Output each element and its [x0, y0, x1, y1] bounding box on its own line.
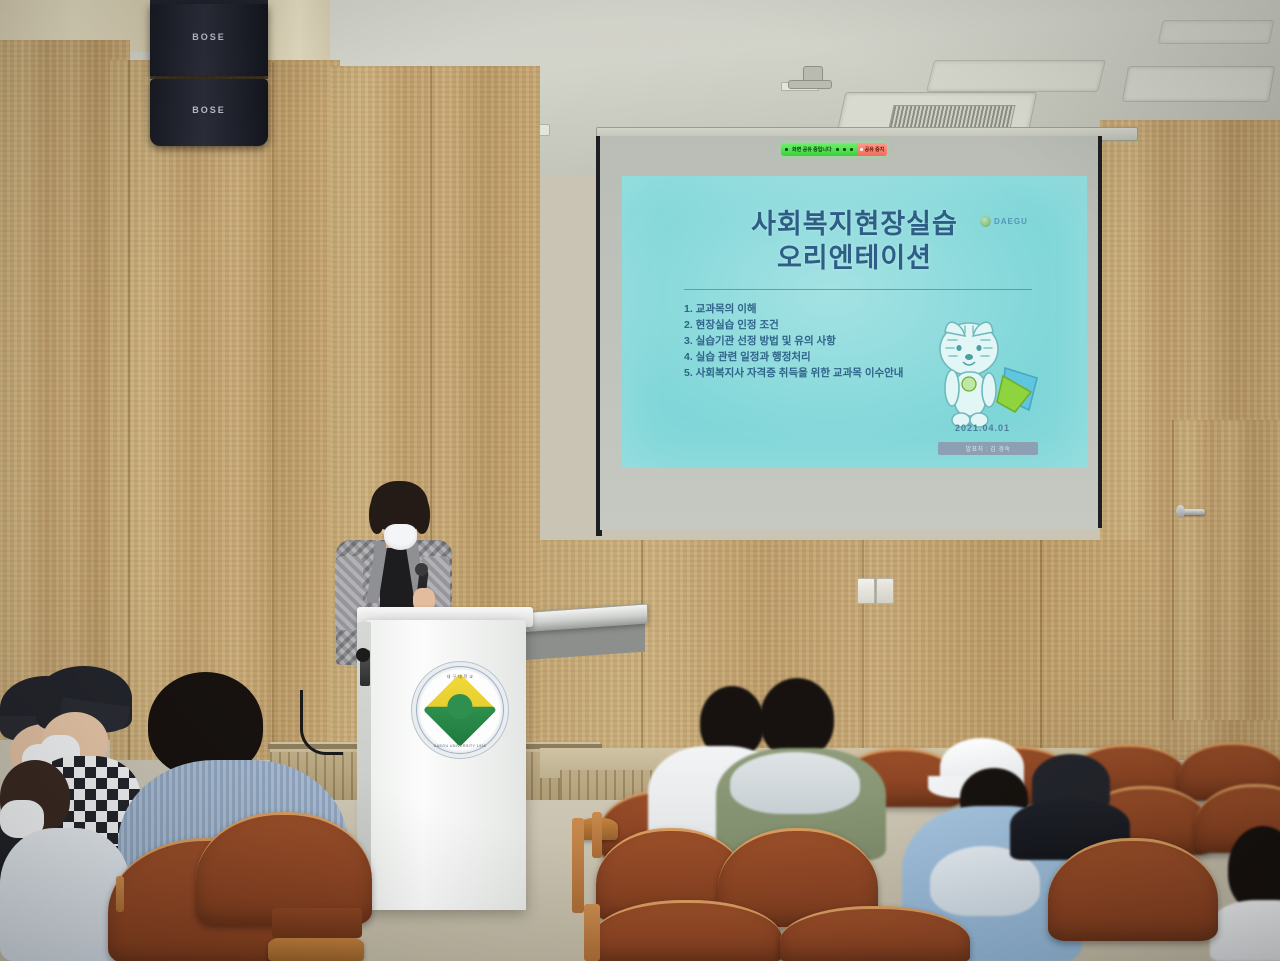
audience-head	[760, 678, 834, 758]
stop-sharing-label: 공유 중지	[865, 146, 885, 153]
speaker-brand-label: BOSE	[150, 105, 268, 115]
upper-wall	[268, 0, 330, 64]
stop-icon	[860, 148, 863, 151]
notification-message-area: 화면 공유 중입니다	[781, 143, 857, 156]
slide-bullet-list: 1. 교과목의 이해 2. 현장실습 인정 조건 3. 실습기관 선정 방법 및…	[684, 302, 903, 382]
seat-divider	[116, 876, 124, 912]
projected-slide: DAEGU 사회복지현장실습 오리엔테이션 1. 교과목의 이해 2. 현장실습…	[622, 176, 1087, 468]
seat-armrest	[268, 934, 364, 961]
emblem-top-text: 대 구 대 학 교	[412, 674, 508, 680]
seat-base	[272, 908, 362, 938]
slide-credit-box: 발표자 : 김 경숙	[938, 442, 1038, 455]
slide-title-line2: 오리엔테이션	[622, 242, 1087, 275]
wall-seam	[128, 60, 130, 760]
wall-outlet-plate[interactable]	[876, 578, 894, 604]
audience-hood	[730, 752, 860, 814]
slide-bullet: 2. 현장실습 인정 조건	[684, 318, 903, 334]
dot-icon	[843, 148, 846, 151]
wall-seam	[1040, 540, 1042, 755]
slide-bullet: 4. 실습 관련 일정과 행정처리	[684, 350, 903, 366]
seat-rail	[584, 904, 600, 961]
stop-sharing-button[interactable]: 공유 중지	[857, 143, 888, 156]
emblem-bottom-text: DAEGU UNIVERSITY 1956	[412, 744, 508, 748]
podium-microphone-stand	[356, 648, 370, 662]
ceiling-ac-vent	[926, 60, 1106, 92]
dot-icon	[836, 148, 839, 151]
dot-icon	[850, 148, 853, 151]
slide-bullet: 3. 실습기관 선정 방법 및 유의 사항	[684, 334, 903, 350]
slide-bullet: 5. 사회복지사 자격증 취득을 위한 교과목 이수안내	[684, 366, 903, 382]
seat-divider	[572, 818, 584, 913]
projector-arm	[788, 80, 832, 89]
door-handle-base	[1176, 505, 1185, 518]
microphone-cable	[300, 690, 343, 755]
notification-message: 화면 공유 중입니다	[792, 146, 832, 153]
ceiling-ac-vent	[1157, 20, 1274, 44]
seat-divider	[592, 812, 602, 858]
slide-divider	[684, 289, 1032, 290]
tiger-mascot-icon	[919, 306, 1051, 438]
slide-title-line1: 사회복지현장실습	[622, 208, 1087, 241]
share-indicator-icon	[785, 148, 788, 151]
presenter-face-mask	[384, 524, 417, 550]
presenter-hair-side	[369, 496, 385, 534]
wall-seam	[272, 62, 274, 762]
slide-bullet: 1. 교과목의 이해	[684, 302, 903, 318]
audience-body	[1210, 900, 1280, 961]
microphone-head-icon	[415, 563, 428, 576]
speaker-bose-upper: BOSE	[150, 4, 268, 76]
speaker-brand-label: BOSE	[150, 32, 268, 42]
wall-seam	[862, 540, 864, 755]
slide-date: 2021.04.01	[955, 423, 1010, 433]
wall-switch-plate[interactable]	[857, 578, 875, 604]
door[interactable]	[1172, 420, 1280, 720]
ceiling-ac-vent	[1122, 66, 1275, 102]
presenter-hair-side	[414, 496, 430, 534]
speaker-bose-lower: BOSE	[150, 79, 268, 146]
screen-share-notification: 화면 공유 중입니다 공유 중지	[781, 143, 887, 156]
emblem-dot-icon	[442, 689, 477, 724]
auditorium-photo: BOSE BOSE DAEGU 사회복지현장실습 오리엔테이션 1. 교과목의 …	[0, 0, 1280, 961]
wall-left-wood	[110, 60, 340, 760]
podium-emblem: 대 구 대 학 교 DAEGU UNIVERSITY 1956	[411, 661, 509, 759]
